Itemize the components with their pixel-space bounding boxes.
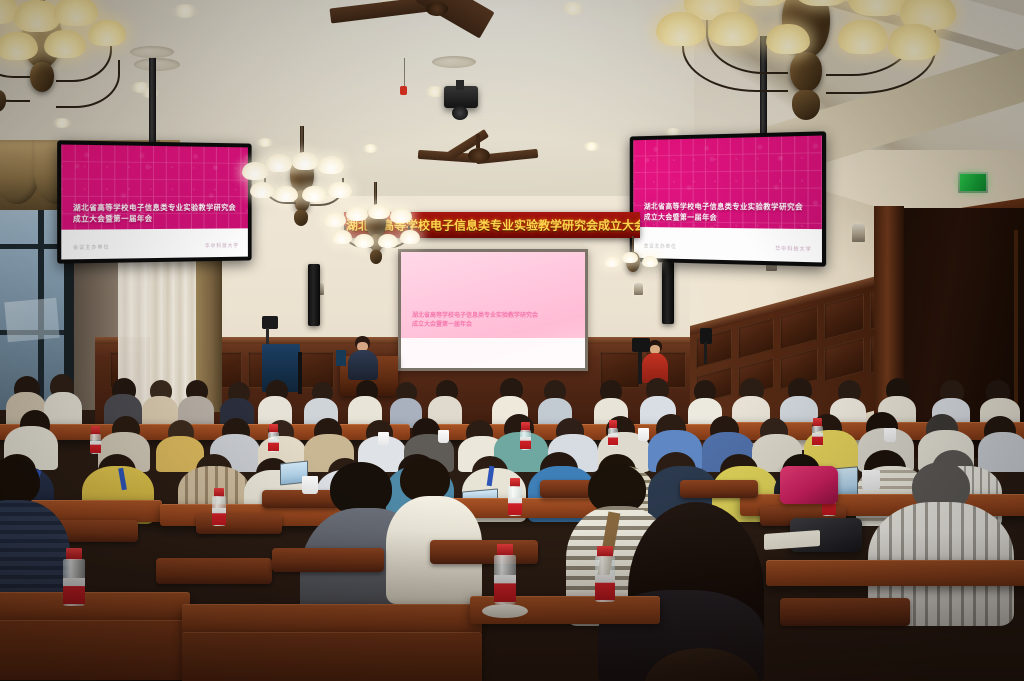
projection-headline: 湖北省高等学校电子信息类专业实验教学研究会 成立大会暨第一届年会 (412, 312, 538, 330)
right-tv-footer-right: 华中科技大学 (775, 245, 812, 253)
left-wall-mounted-tv[interactable]: 湖北省高等学校电子信息类专业实验教学研究会 成立大会暨第一届年会 会议主办单位 … (57, 140, 252, 263)
ceiling-downlight (583, 142, 600, 151)
left-tv-mount-pole (149, 52, 156, 146)
left-tv-footer-left: 会议主办单位 (73, 244, 110, 252)
ceiling-fan-front (330, 0, 510, 40)
left-tv-footer-right: 华中科技大学 (205, 242, 239, 249)
window-mullion (0, 244, 66, 249)
ceiling-downlight (424, 86, 446, 97)
exit-sign-glow (960, 174, 986, 191)
chair-back (430, 540, 538, 564)
ceiling-downlight (362, 144, 379, 153)
exit-sign (958, 172, 988, 193)
stage-monitor (262, 316, 278, 329)
desk-row-3-center (182, 604, 482, 634)
napkin (482, 604, 528, 618)
chandelier-front-left (0, 0, 140, 145)
podium-monitor (336, 350, 346, 366)
window-reflection (4, 298, 59, 342)
projector-lens (452, 106, 468, 120)
ceiling-fan-mid (418, 134, 538, 174)
desk-row-3-left (0, 592, 190, 622)
projector-mount (456, 80, 464, 90)
chair-back (780, 598, 910, 626)
ceiling-downlight (560, 2, 586, 15)
water-bottle[interactable] (494, 544, 516, 604)
fan-pull-cord[interactable] (404, 58, 405, 88)
water-bottle[interactable] (63, 548, 85, 606)
water-bottle[interactable] (595, 546, 615, 602)
desk-row-3-left-front (0, 620, 186, 680)
chair-back (272, 548, 384, 572)
fan-pull-knob[interactable] (400, 86, 407, 95)
chandelier-far-right (600, 236, 670, 296)
chandelier-front-right (660, 0, 950, 122)
ceiling-vent (134, 58, 180, 71)
ceiling-downlight (172, 4, 198, 18)
wall-speaker-left (308, 264, 320, 326)
chandelier-mid-right (322, 182, 432, 282)
desk-row-3-far-right (766, 560, 1024, 586)
left-tv-headline: 湖北省高等学校电子信息类专业实验教学研究会 成立大会暨第一届年会 (73, 203, 236, 225)
conference-hall-photo: 湖北省高等学校电子信息类专业实验教学研究会 成立大会暨第一届年会 会议主办单位 … (0, 0, 1024, 681)
right-tv-headline: 湖北省高等学校电子信息类专业实验教学研究会 成立大会暨第一届年会 (644, 202, 803, 225)
wall-camera-stand (704, 342, 707, 364)
chair-back (156, 558, 272, 584)
left-tv-screen: 湖北省高等学校电子信息类专业实验教学研究会 成立大会暨第一届年会 会议主办单位 … (61, 145, 248, 260)
projection-footer-band (401, 338, 585, 368)
desk-row-3-center-front (182, 632, 482, 681)
ceiling-vent (432, 56, 476, 68)
video-camera-icon (632, 338, 650, 352)
wall-sconce-right (852, 224, 865, 242)
